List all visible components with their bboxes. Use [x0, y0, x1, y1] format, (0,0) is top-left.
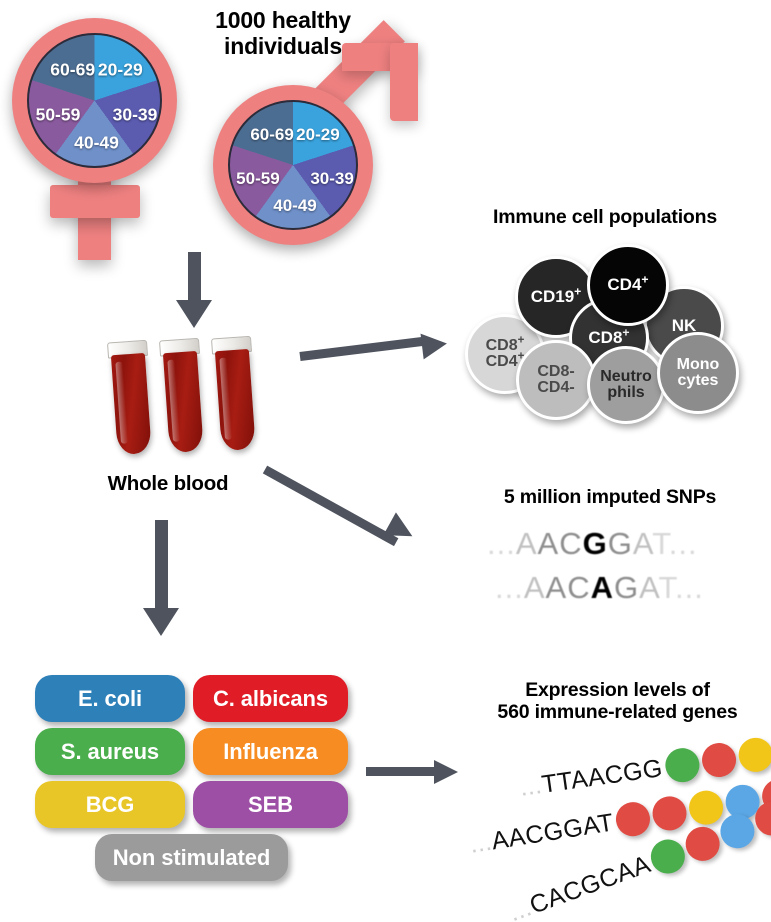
- age-group-label: 30-39: [310, 169, 353, 189]
- age-group-label: 50-59: [36, 105, 81, 126]
- cell-label: CD19+: [531, 288, 582, 305]
- male-cohort-symbol: 20-2930-3940-4950-5960-69: [195, 40, 425, 255]
- strand-sequence-text: ...CACGCAA: [505, 850, 654, 922]
- cell-label: Neutrophils: [600, 369, 652, 402]
- whole-blood-tubes: [95, 335, 285, 475]
- section-title-immune-cells: Immune cell populations: [455, 207, 755, 229]
- section-title-expression: Expression levels of 560 immune-related …: [470, 680, 765, 724]
- expression-strand-group: ...TTAACGG ...AACGGAT ...CACGCAA: [460, 735, 771, 915]
- cell-bubble-cd8-cd4-double-negative: CD8-CD4-: [516, 340, 596, 420]
- strand-sequence-text: ...AACGGAT: [468, 808, 616, 859]
- cell-bubble-cd4: CD4+: [587, 244, 669, 326]
- stimulus-label: SEB: [248, 792, 293, 818]
- stimuli-panel: E. coli C. albicans S. aureus Influenza …: [30, 675, 350, 895]
- stimulus-label: E. coli: [78, 686, 142, 712]
- gene-bead: [614, 800, 653, 839]
- immune-cell-cluster: CD8+CD4+ CD19+ CD4+ NK CD8+ CD8-CD4- Neu…: [452, 240, 762, 420]
- stimulus-bcg[interactable]: BCG: [35, 781, 185, 828]
- stimulus-seb[interactable]: SEB: [193, 781, 348, 828]
- expression-title-line-1: Expression levels of: [470, 680, 765, 702]
- male-symbol-arrowhead-v: [390, 43, 418, 121]
- stimulus-s-aureus[interactable]: S. aureus: [35, 728, 185, 775]
- age-group-label: 30-39: [113, 105, 158, 126]
- stimulus-influenza[interactable]: Influenza: [193, 728, 348, 775]
- age-group-label: 20-29: [98, 59, 143, 80]
- stimulus-e-coli[interactable]: E. coli: [35, 675, 185, 722]
- cell-label: Monocytes: [677, 357, 720, 390]
- female-age-pie: 20-2930-3940-4950-5960-69: [27, 33, 162, 168]
- label-whole-blood: Whole blood: [78, 473, 258, 496]
- female-symbol-crossbar: [50, 185, 140, 218]
- age-group-label: 40-49: [74, 133, 119, 154]
- cell-label: CD8+: [588, 329, 629, 346]
- stimulus-label: BCG: [86, 792, 135, 818]
- cell-label: CD4+: [607, 276, 648, 293]
- section-title-snps: 5 million imputed SNPs: [465, 487, 755, 509]
- cell-bubble-monocytes: Monocytes: [657, 332, 739, 414]
- stimulus-label: Influenza: [223, 739, 317, 765]
- age-group-label: 40-49: [273, 196, 316, 216]
- gene-bead: [650, 794, 689, 833]
- arrow-blood-to-immune: [300, 330, 460, 370]
- gene-bead: [681, 822, 725, 866]
- snp-sequence-block: ...AACGGAT... ...AACAGAT...: [487, 526, 747, 616]
- gene-bead: [736, 736, 771, 774]
- stimulus-c-albicans[interactable]: C. albicans: [193, 675, 348, 722]
- expression-title-line-2: 560 immune-related genes: [470, 702, 765, 724]
- snp-sequence-row: ...AACAGAT...: [495, 570, 704, 606]
- strand-sequence-text: ...TTAACGG: [518, 754, 664, 803]
- gene-bead: [647, 835, 691, 879]
- arrow-blood-to-snps: [265, 455, 455, 565]
- age-group-label: 60-69: [50, 59, 95, 80]
- cell-bubble-neutrophils: Neutrophils: [587, 346, 665, 424]
- male-age-pie: 20-2930-3940-4950-5960-69: [228, 100, 358, 230]
- study-design-figure: 1000 healthy individuals 20-2930-3940-49…: [0, 0, 771, 922]
- age-group-label: 50-59: [236, 169, 279, 189]
- gene-bead: [663, 746, 701, 784]
- stimulus-label: Non stimulated: [113, 845, 271, 871]
- stimulus-label: S. aureus: [61, 739, 159, 765]
- age-group-label: 60-69: [250, 125, 293, 145]
- cell-label: CD8-CD4-: [537, 364, 574, 397]
- gene-bead: [700, 741, 738, 779]
- stimulus-non-stimulated[interactable]: Non stimulated: [95, 834, 288, 881]
- age-group-label: 20-29: [296, 125, 339, 145]
- female-cohort-symbol: 20-2930-3940-4950-5960-69: [0, 0, 210, 265]
- stimulus-label: C. albicans: [213, 686, 328, 712]
- snp-sequence-row: ...AACGGAT...: [487, 526, 698, 562]
